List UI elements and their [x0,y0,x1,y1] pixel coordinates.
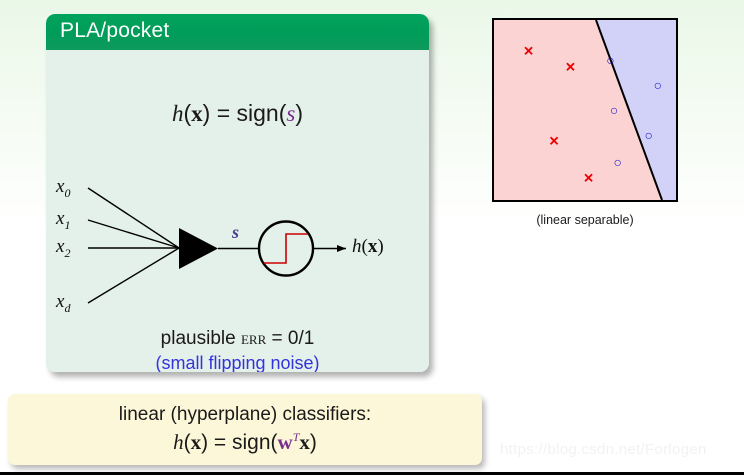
input-xd-sub: d [64,301,70,315]
sign-step-curve [264,234,308,263]
data-point-o: ○ [654,78,662,92]
input-label-x1: x1 [56,208,70,233]
bottom-rule [0,472,744,475]
note-suffix: = 0/1 [266,328,314,349]
formula-s-symbol: s [286,101,295,126]
cream-formula-end: ) [310,431,317,454]
formula-end-paren: ) [295,100,303,126]
data-point-o: ○ [644,128,652,142]
input-x0-sub: 0 [64,186,70,200]
input-label-x2: x2 [56,236,70,261]
output-x-vector: x [368,236,378,257]
panel-body: h(x) = sign(s) [46,50,429,372]
panel-notes: plausible err = 0/1 (small flipping nois… [46,328,429,372]
note-prefix: plausible [161,328,241,349]
note-line-flipping-noise: (small flipping noise) [46,353,429,372]
hypothesis-formula: h(x) = sign(s) [46,100,429,127]
wire-xd [88,248,179,303]
formula-close-eq: ) = [203,100,237,126]
perceptron-diagram: x0 x1 x2 xd s h(x) [46,168,429,328]
scatter-plot-area: ✕ ✕ ✕ ✕ ○ ○ ○ ○ ○ [492,18,678,202]
signal-label-s: s [232,222,239,243]
linear-separable-figure: ✕ ✕ ✕ ✕ ○ ○ ○ ○ ○ [492,18,678,202]
note-line-plausible-err: plausible err = 0/1 [46,328,429,350]
cream-formula-close-eq: ) = [201,431,232,454]
summation-triangle [179,228,218,269]
panel-title: PLA/pocket [60,19,169,43]
linear-classifier-panel: linear (hyperplane) classifiers: h(x) = … [8,394,482,465]
figure-caption: (linear separable) [492,213,678,227]
data-point-o: ○ [606,53,614,67]
formula-sign-fn: sign( [237,100,287,126]
output-label-hx: h(x) [352,236,384,258]
cream-formula-w-vector: w [278,430,293,454]
output-h: h [352,236,362,257]
pla-pocket-panel: PLA/pocket h(x) = sign(s) [46,14,429,372]
input-x2-sub: 2 [64,246,70,260]
formula-h: h [172,101,184,126]
output-close-paren: ) [377,236,383,257]
input-label-x0: x0 [56,176,70,201]
formula-open-paren: ( [183,100,191,126]
cream-formula-h: h [173,430,184,454]
cream-formula-sign: sign( [232,431,278,454]
cream-formula-open: ( [184,431,191,454]
cream-formula-x1: x [191,430,202,454]
data-point-o: ○ [610,103,618,117]
data-point-x: ✕ [523,44,534,57]
data-point-x: ✕ [565,60,576,73]
wire-x1 [88,220,179,248]
wire-x0 [88,188,179,248]
watermark-text: https://blog.csdn.net/Forlogen [500,441,707,458]
input-label-xd: xd [56,291,70,316]
cream-formula-x2: x [299,430,310,454]
data-point-x: ✕ [583,172,594,185]
linear-classifier-formula: h(x) = sign(wTx) [8,430,482,455]
slide-canvas: PLA/pocket h(x) = sign(s) [0,0,744,476]
output-arrowhead [337,245,346,252]
formula-x-vector: x [191,101,203,126]
data-point-o: ○ [614,155,622,169]
note-err-term: err [241,328,266,348]
data-point-x: ✕ [549,134,560,147]
linear-classifier-heading: linear (hyperplane) classifiers: [8,404,482,426]
input-x1-sub: 1 [64,218,70,232]
